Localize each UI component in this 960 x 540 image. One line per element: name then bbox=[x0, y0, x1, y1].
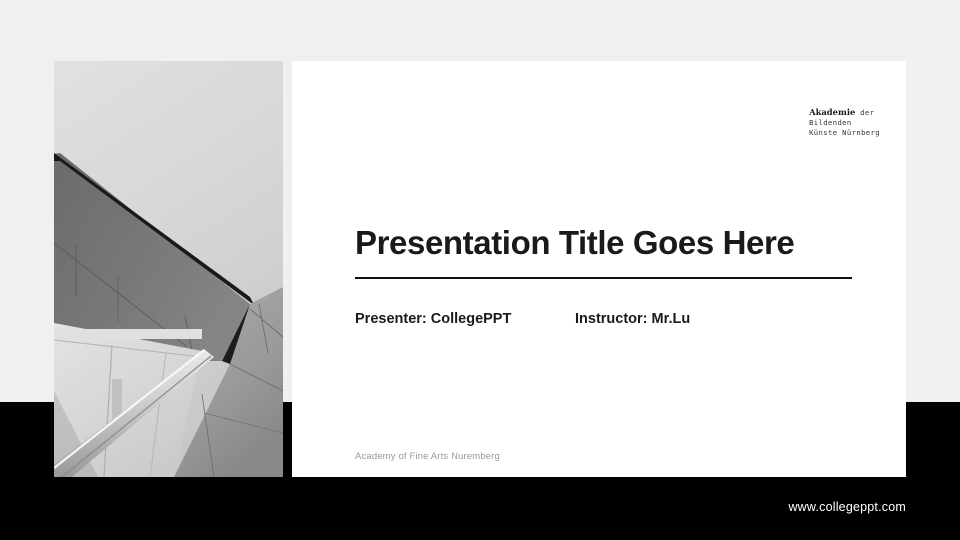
logo-line-2: Bildenden bbox=[809, 118, 880, 128]
institution-logo: Akademie der Bildenden Künste Nürnberg bbox=[809, 107, 880, 137]
credits-row: Presenter: CollegePPT Instructor: Mr.Lu bbox=[355, 311, 690, 327]
title-area: Presentation Title Goes Here bbox=[355, 225, 855, 279]
presenter-label: Presenter: CollegePPT bbox=[355, 311, 575, 327]
slide-content-card: Akademie der Bildenden Künste Nürnberg P… bbox=[292, 61, 906, 477]
page-title: Presentation Title Goes Here bbox=[355, 225, 855, 261]
logo-word-der: der bbox=[860, 108, 874, 117]
institution-footer: Academy of Fine Arts Nuremberg bbox=[355, 451, 500, 462]
watermark-url: www.collegeppt.com bbox=[788, 500, 906, 514]
instructor-label: Instructor: Mr.Lu bbox=[575, 311, 690, 327]
logo-line-3: Künste Nürnberg bbox=[809, 128, 880, 138]
architecture-photo-canvas bbox=[54, 61, 283, 477]
title-divider bbox=[355, 277, 852, 278]
logo-line-1: Akademie der bbox=[809, 107, 880, 118]
slide-stage: Akademie der Bildenden Künste Nürnberg P… bbox=[0, 0, 960, 540]
logo-word-akademie: Akademie bbox=[809, 107, 855, 117]
architecture-photo bbox=[54, 61, 283, 477]
